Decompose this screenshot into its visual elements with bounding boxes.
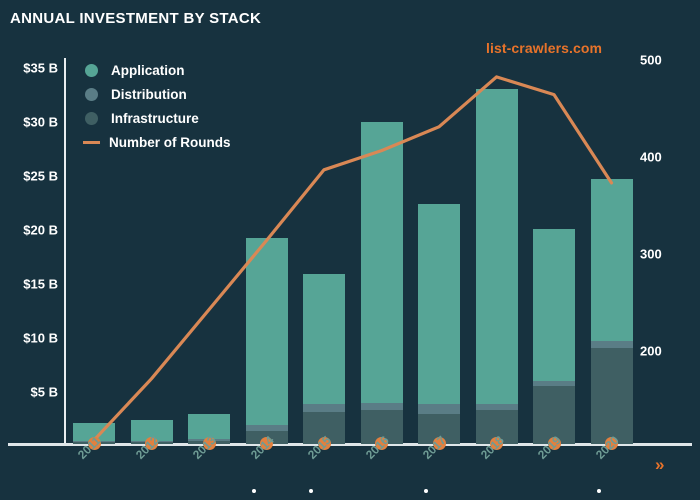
bar-segment-infrastructure-2020	[591, 348, 633, 444]
bar-segment-distribution-2017	[418, 404, 460, 414]
y-axis-right-labels: 200 300 400 500	[640, 0, 700, 500]
legend: Application Distribution Infrastructure …	[85, 58, 231, 154]
y-axis-line	[64, 58, 66, 444]
y-axis-left-labels: $5 B $10 B $15 B $20 B $25 B $30 B $35 B	[0, 0, 58, 500]
y-tick-left-3: $20 B	[23, 223, 58, 238]
watermark-label: list-crawlers.com	[486, 40, 602, 56]
y-tick-right-0: 200	[640, 344, 662, 359]
legend-label-application: Application	[111, 63, 185, 78]
x-axis-minor-dot	[424, 489, 428, 493]
y-tick-left-0: $5 B	[31, 385, 58, 400]
bar-2018[interactable]	[476, 89, 518, 444]
legend-item-application[interactable]: Application	[85, 58, 231, 82]
x-axis-minor-dot	[252, 489, 256, 493]
bar-2020[interactable]	[591, 179, 633, 444]
y-tick-right-1: 300	[640, 247, 662, 262]
bar-2014[interactable]	[246, 238, 288, 444]
x-axis-minor-dot	[597, 489, 601, 493]
legend-dot-icon-application	[85, 64, 98, 77]
bar-segment-application-2016	[361, 122, 403, 403]
y-tick-left-6: $35 B	[23, 61, 58, 76]
y-tick-right-3: 500	[640, 53, 662, 68]
legend-dot-icon-distribution	[85, 88, 98, 101]
bar-segment-application-2018	[476, 89, 518, 404]
x-axis-minor-dot	[309, 489, 313, 493]
legend-dot-icon-infrastructure	[85, 112, 98, 125]
legend-item-number-of-rounds[interactable]: Number of Rounds	[85, 130, 231, 154]
bar-segment-application-2014	[246, 238, 288, 425]
bar-2019[interactable]	[533, 229, 575, 444]
bar-2015[interactable]	[303, 274, 345, 444]
bar-segment-application-2019	[533, 229, 575, 380]
y-tick-right-2: 400	[640, 150, 662, 165]
legend-line-icon-number-of-rounds	[83, 141, 100, 144]
y-tick-left-4: $25 B	[23, 169, 58, 184]
bar-segment-application-2020	[591, 179, 633, 341]
legend-label-infrastructure: Infrastructure	[111, 111, 199, 126]
overflow-chevron-icon[interactable]: »	[655, 455, 664, 475]
legend-item-infrastructure[interactable]: Infrastructure	[85, 106, 231, 130]
bar-2017[interactable]	[418, 204, 460, 444]
bar-segment-application-2015	[303, 274, 345, 404]
y-tick-left-1: $10 B	[23, 331, 58, 346]
y-tick-left-5: $30 B	[23, 115, 58, 130]
bar-segment-distribution-2020	[591, 341, 633, 349]
bar-segment-application-2017	[418, 204, 460, 404]
legend-item-distribution[interactable]: Distribution	[85, 82, 231, 106]
bar-segment-distribution-2015	[303, 404, 345, 412]
legend-label-distribution: Distribution	[111, 87, 187, 102]
legend-label-number-of-rounds: Number of Rounds	[109, 135, 231, 150]
bar-2016[interactable]	[361, 122, 403, 444]
y-tick-left-2: $15 B	[23, 277, 58, 292]
chart-root: ANNUAL INVESTMENT BY STACK list-crawlers…	[0, 0, 700, 500]
